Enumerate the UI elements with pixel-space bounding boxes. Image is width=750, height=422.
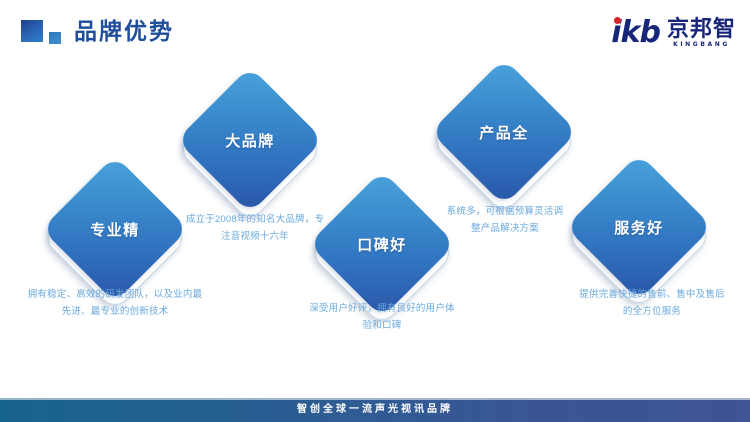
card-chanpinquan[interactable]: 产品全 [452, 80, 556, 184]
card-caption: 深受用户好评，拥有良好的用户体验和口碑 [306, 300, 458, 334]
card-fuwuhao[interactable]: 服务好 [587, 175, 691, 279]
page-title: 品牌优势 [74, 15, 174, 47]
logo-mark-icon: ikb [611, 18, 660, 48]
card-caption: 系统多，可根据预算灵活调整产品解决方案 [445, 203, 565, 237]
card-dapinpai[interactable]: 大品牌 [198, 88, 302, 192]
card-zhuanyejing[interactable]: 专业精 [63, 177, 167, 281]
slide-footer: 智创全球一流声光视讯品牌 [0, 398, 750, 422]
card-koubeihao[interactable]: 口碑好 [330, 192, 434, 296]
logo-name-en: KINGBANG [673, 40, 730, 49]
card-label: 专业精 [63, 177, 167, 281]
card-caption: 提供完善快捷的售前、售中及售后的全方位服务 [578, 286, 726, 320]
decorative-square-large-icon [20, 19, 44, 43]
card-label: 产品全 [452, 80, 556, 184]
card-label: 口碑好 [330, 192, 434, 296]
decorative-square-small-icon [48, 31, 62, 45]
logo-wordmark: 京邦智 KINGBANG [667, 17, 736, 49]
logo-name-cn: 京邦智 [667, 17, 736, 40]
card-caption: 拥有稳定、高效的研发团队，以及业内最先进、最专业的创新技术 [25, 286, 205, 320]
slide-canvas: 品牌优势 ikb 京邦智 KINGBANG 专业精 拥有稳定、高效的研发团队，以… [0, 0, 750, 422]
card-caption: 成立于2008年的知名大品牌，专注音视频十六年 [181, 211, 329, 245]
card-label: 服务好 [587, 175, 691, 279]
footer-slogan: 智创全球一流声光视讯品牌 [297, 398, 453, 422]
brand-logo: ikb 京邦智 KINGBANG [611, 14, 736, 52]
footer-divider [0, 398, 750, 400]
card-label: 大品牌 [198, 88, 302, 192]
